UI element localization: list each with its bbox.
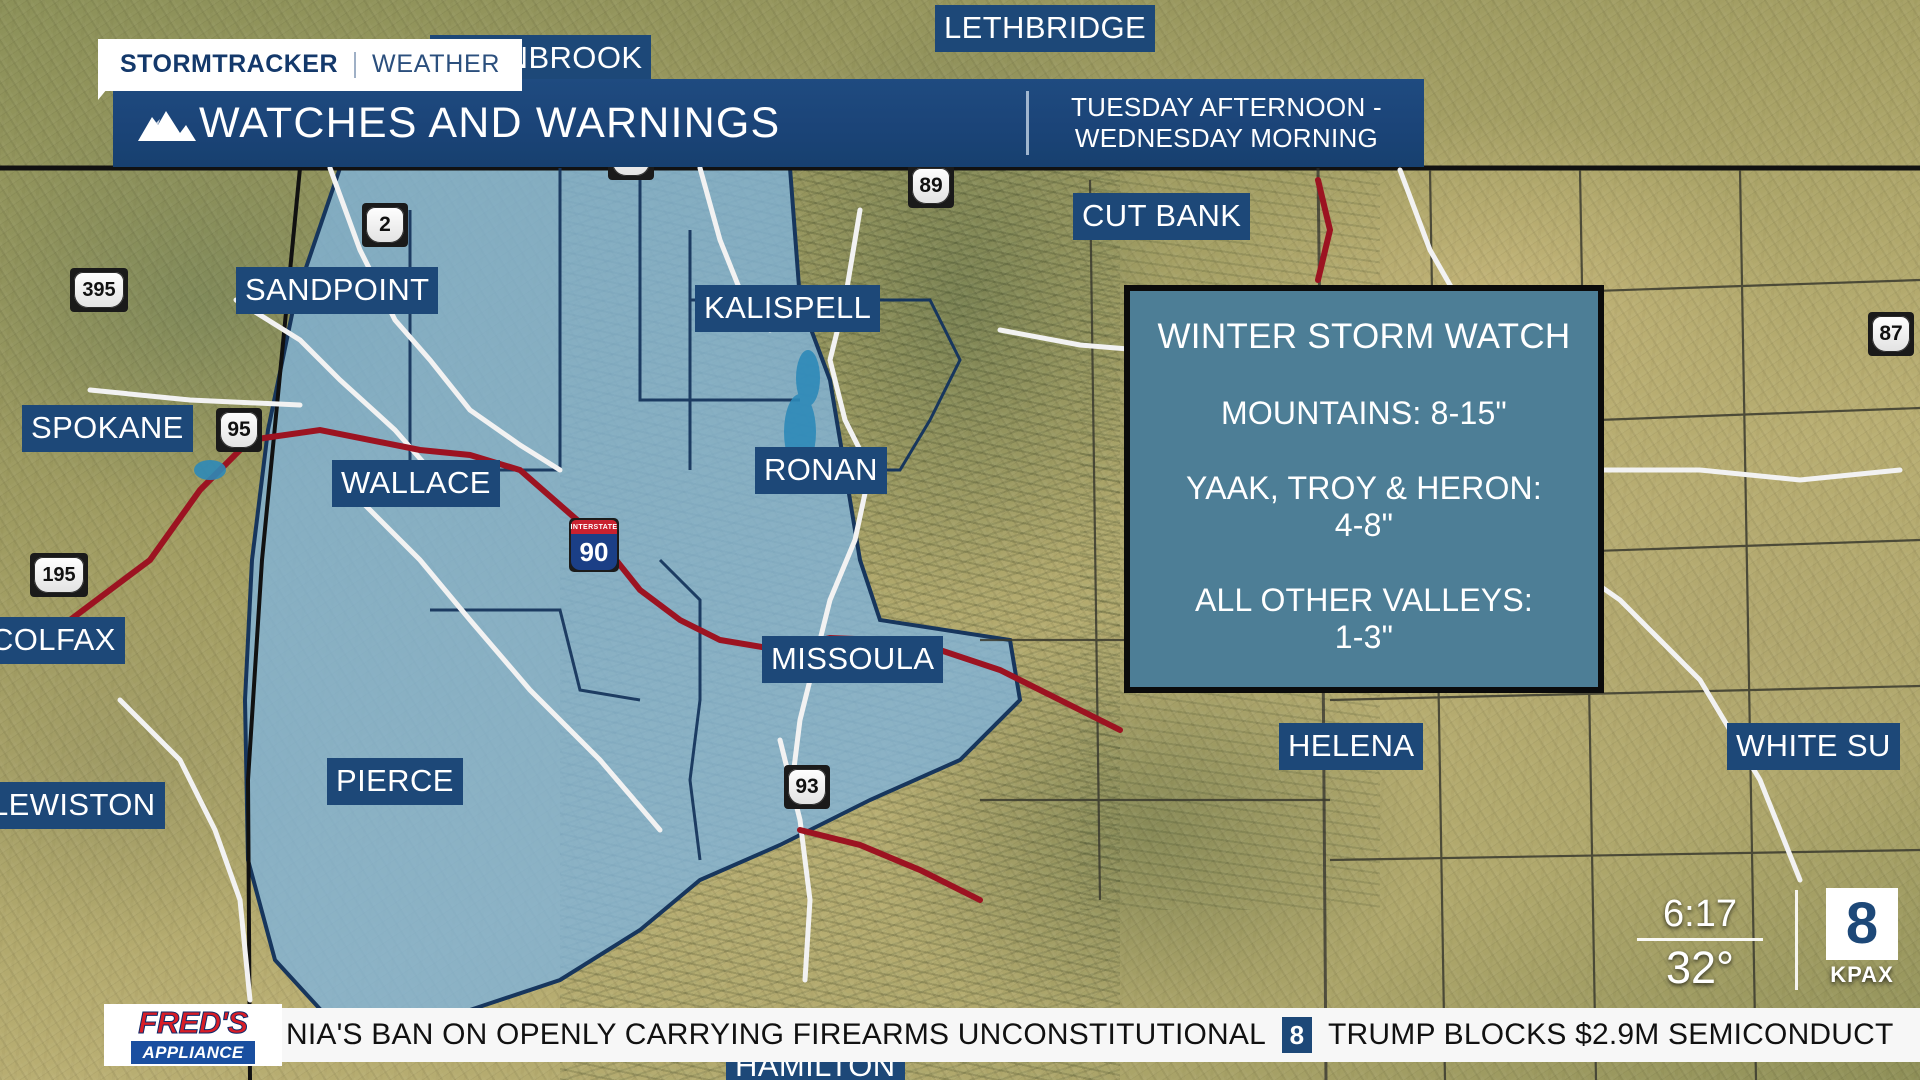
alert-yaak-label: YAAK, TROY & HERON: (1148, 470, 1580, 507)
alert-mountains: MOUNTAINS: 8-15" (1148, 395, 1580, 432)
highway-shield-icon: 87 (1868, 312, 1914, 356)
station-number: 8 (1846, 895, 1878, 953)
city-label: HELENA (1279, 723, 1423, 770)
city-label: SANDPOINT (236, 267, 438, 314)
time-temperature-bug: 6:17 32° (1625, 895, 1775, 990)
station-logo-group: 8 KPAX (1820, 888, 1904, 988)
highway-number: 87 (1872, 316, 1910, 352)
current-time: 6:17 (1625, 895, 1775, 933)
stormtracker-label: STORMTRACKER (120, 50, 338, 79)
header-banner: WATCHES AND WARNINGS TUESDAY AFTERNOON -… (113, 79, 1424, 167)
interstate-label: INTERSTATE (571, 520, 617, 534)
alert-yaak-amount: 4-8" (1148, 507, 1580, 544)
sponsor-name: FRED'S (138, 1007, 247, 1038)
alert-yaak-troy-heron: YAAK, TROY & HERON: 4-8" (1148, 470, 1580, 544)
highway-number: 89 (912, 168, 950, 204)
city-label: SPOKANE (22, 405, 193, 452)
city-label: RONAN (755, 447, 887, 494)
ticker-headline-1: NIA'S BAN ON OPENLY CARRYING FIREARMS UN… (286, 1018, 1266, 1052)
city-label: LETHBRIDGE (935, 5, 1155, 52)
banner-date-range: TUESDAY AFTERNOON - WEDNESDAY MORNING (1029, 92, 1424, 153)
station-callsign: KPAX (1820, 962, 1904, 988)
city-label: KALISPELL (695, 285, 880, 332)
bug-vertical-separator (1795, 890, 1798, 990)
highway-shield-icon: 95 (216, 408, 262, 452)
alert-valleys-amount: 1-3" (1148, 619, 1580, 656)
city-label: WHITE SU (1727, 723, 1900, 770)
city-label: CUT BANK (1073, 193, 1250, 240)
alert-title: WINTER STORM WATCH (1148, 317, 1580, 357)
city-label: LEWISTON (0, 782, 165, 829)
sponsor-logo-freds-appliance: FRED'S APPLIANCE (104, 1004, 282, 1066)
highway-shield-icon: 89 (908, 164, 954, 208)
city-label: PIERCE (327, 758, 463, 805)
highway-number: 2 (366, 207, 404, 243)
highway-shield-icon: 93 (784, 765, 830, 809)
ticker-headlines: NIA'S BAN ON OPENLY CARRYING FIREARMS UN… (286, 1008, 1894, 1062)
weather-label: WEATHER (372, 50, 500, 79)
interstate-shield-icon: INTERSTATE90 (569, 518, 619, 572)
station-8-logo: 8 (1826, 888, 1898, 960)
highway-number: 95 (220, 412, 258, 448)
winter-storm-watch-box: WINTER STORM WATCH MOUNTAINS: 8-15" YAAK… (1124, 285, 1604, 693)
banner-separator (1026, 91, 1029, 155)
highway-number: 395 (74, 272, 124, 308)
highway-shield-icon: 395 (70, 268, 128, 312)
date-line-2: WEDNESDAY MORNING (1039, 123, 1414, 154)
bug-rule (1637, 938, 1763, 941)
stormtracker-tab: STORMTRACKER WEATHER (98, 39, 522, 91)
current-temperature: 32° (1625, 945, 1775, 990)
alert-other-valleys: ALL OTHER VALLEYS: 1-3" (1148, 582, 1580, 656)
highway-shield-icon: 195 (30, 553, 88, 597)
sponsor-category: APPLIANCE (131, 1041, 256, 1064)
city-label: COLFAX (0, 617, 125, 664)
mountain-icon (113, 103, 199, 143)
city-label: MISSOULA (762, 636, 943, 683)
date-line-1: TUESDAY AFTERNOON - (1039, 92, 1414, 123)
highway-number: 93 (788, 769, 826, 805)
ticker-station-icon: 8 (1282, 1017, 1312, 1053)
banner-title: WATCHES AND WARNINGS (199, 99, 1026, 148)
highway-number: 195 (34, 557, 84, 593)
alert-valleys-label: ALL OTHER VALLEYS: (1148, 582, 1580, 619)
city-label: WALLACE (332, 460, 500, 507)
interstate-number: 90 (571, 534, 617, 570)
broadcast-screen: LETHBRIDGECRANBROOKCUT BANKSANDPOINTKALI… (0, 0, 1920, 1080)
ticker-headline-2: TRUMP BLOCKS $2.9M SEMICONDUCT (1328, 1018, 1894, 1052)
news-ticker: NIA'S BAN ON OPENLY CARRYING FIREARMS UN… (0, 1008, 1920, 1062)
highway-shield-icon: 2 (362, 203, 408, 247)
tab-divider (354, 52, 356, 78)
